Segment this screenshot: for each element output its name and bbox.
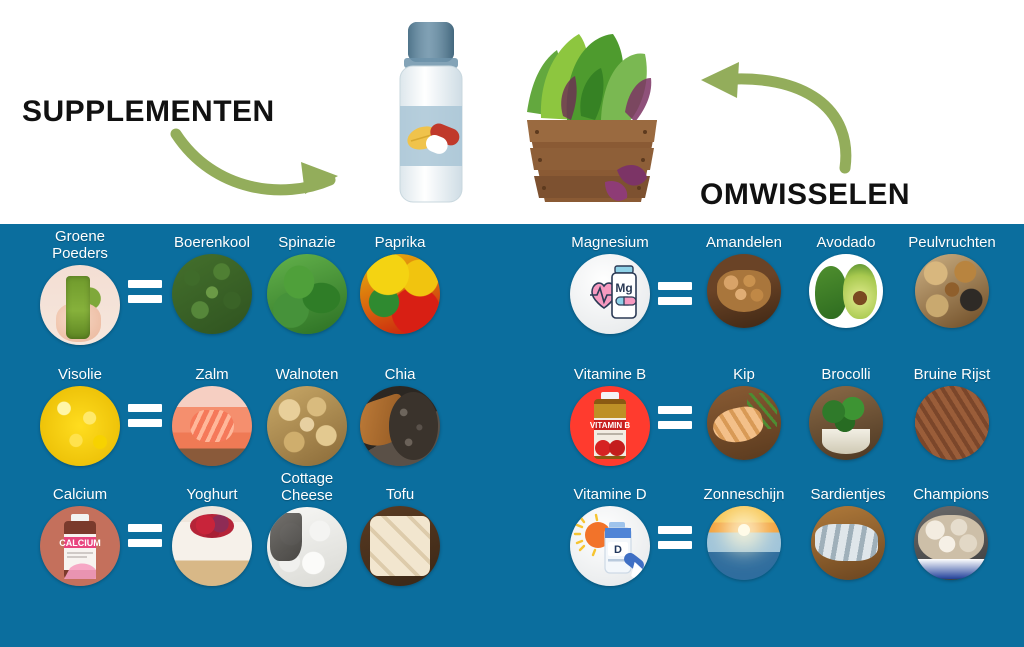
svg-text:VITAMIN B: VITAMIN B — [590, 421, 631, 430]
cottage-cheese-photo — [267, 507, 347, 587]
food-cell: Cottage Cheese — [264, 470, 350, 587]
sardines-photo — [811, 506, 885, 580]
svg-text:Mg: Mg — [615, 281, 632, 295]
svg-text:D: D — [614, 544, 622, 556]
equals-sign — [658, 282, 692, 308]
vitamin-b-bottle-icon: VITAMIN B — [570, 386, 650, 466]
food-cell: Zalm — [165, 366, 259, 466]
food-label: Kip — [696, 366, 792, 383]
mushrooms-photo — [914, 506, 988, 580]
bell-peppers-photo — [360, 254, 440, 334]
svg-text:CALCIUM: CALCIUM — [59, 538, 101, 548]
supplement-label: Vitamine D — [560, 486, 660, 503]
omwisselen-title: OMWISSELEN — [700, 178, 910, 212]
row-calcium: Calcium CALCIUM — [0, 482, 512, 600]
food-cell: Paprika — [357, 234, 443, 334]
supplement-cell: Visolie — [30, 366, 130, 466]
equals-sign — [128, 524, 162, 550]
food-label: Amandelen — [696, 234, 792, 251]
food-label: Walnoten — [264, 366, 350, 383]
row-visolie: Visolie Zalm Walnoten Chia — [0, 362, 512, 480]
header-band: SUPPLEMENTEN OMWISSELEN — [0, 0, 1024, 224]
supplement-cell: Groene Poeders — [30, 228, 130, 345]
food-cell: Walnoten — [264, 366, 350, 466]
tofu-photo — [360, 506, 440, 586]
food-label: Bruine Rijst — [896, 366, 1008, 383]
food-cell: Amandelen — [696, 234, 792, 328]
food-cell: Chia — [357, 366, 443, 466]
curved-arrow-right-icon — [168, 128, 358, 198]
sunshine-photo — [707, 506, 781, 580]
food-cell: Yoghurt — [165, 486, 259, 586]
food-cell: Brocolli — [802, 366, 890, 460]
green-smoothie-photo — [40, 265, 120, 345]
food-label: Tofu — [357, 486, 443, 503]
chicken-breast-photo — [707, 386, 781, 460]
supplement-cell: Vitamine B VITAMIN B — [560, 366, 660, 466]
fish-oil-capsules-photo — [40, 386, 120, 466]
kale-photo — [172, 254, 252, 334]
food-label: Peulvruchten — [896, 234, 1008, 251]
supplement-label: Vitamine B — [560, 366, 660, 383]
supplement-bottle-icon — [378, 18, 484, 208]
walnuts-photo — [267, 386, 347, 466]
food-cell: Boerenkool — [165, 234, 259, 334]
supplement-cell: Calcium CALCIUM — [30, 486, 130, 586]
infographic-page: SUPPLEMENTEN OMWISSELEN — [0, 0, 1024, 647]
equals-sign — [658, 526, 692, 552]
food-cell: Tofu — [357, 486, 443, 586]
legumes-photo — [915, 254, 989, 328]
row-vitamine-b: Vitamine B VITAMIN B — [540, 362, 1024, 480]
supplement-label: Visolie — [30, 366, 130, 383]
yoghurt-photo — [172, 506, 252, 586]
food-label: Chia — [357, 366, 443, 383]
equals-sign — [128, 280, 162, 306]
supplement-cell: Magnesium Mg — [560, 234, 660, 334]
vitamin-d-bottle-icon: D — [570, 506, 650, 586]
food-label: Zonneschijn — [690, 486, 798, 503]
right-column: Magnesium Mg — [540, 224, 1024, 647]
almonds-photo — [707, 254, 781, 328]
row-vitamine-d: Vitamine D — [540, 482, 1024, 600]
vegetable-basket-icon — [505, 20, 680, 210]
food-cell: Zonneschijn — [690, 486, 798, 580]
brown-rice-photo — [915, 386, 989, 460]
row-groene-poeders: Groene Poeders Boerenkool Spinazie Papri… — [0, 224, 512, 342]
food-cell: Peulvruchten — [896, 234, 1008, 328]
food-label: Sardientjes — [798, 486, 898, 503]
food-cell: Bruine Rijst — [896, 366, 1008, 460]
food-label: Zalm — [165, 366, 259, 383]
food-cell: Sardientjes — [798, 486, 898, 580]
supplementen-title: SUPPLEMENTEN — [22, 95, 275, 129]
food-label: Boerenkool — [165, 234, 259, 251]
food-cell: Kip — [696, 366, 792, 460]
row-magnesium: Magnesium Mg — [540, 224, 1024, 342]
supplement-cell: Vitamine D — [560, 486, 660, 586]
equals-sign — [128, 404, 162, 430]
broccoli-photo — [809, 386, 883, 460]
salmon-photo — [172, 386, 252, 466]
food-cell: Avodado — [802, 234, 890, 328]
food-label: Brocolli — [802, 366, 890, 383]
food-label: Cottage Cheese — [264, 470, 350, 504]
food-label: Paprika — [357, 234, 443, 251]
supplement-label: Groene Poeders — [30, 228, 130, 262]
food-cell: Spinazie — [264, 234, 350, 334]
supplement-label: Calcium — [30, 486, 130, 503]
food-label: Spinazie — [264, 234, 350, 251]
calcium-bottle-icon: CALCIUM — [40, 506, 120, 586]
comparison-panel: Groene Poeders Boerenkool Spinazie Papri… — [0, 224, 1024, 647]
supplement-label: Magnesium — [560, 234, 660, 251]
food-cell: Champions — [898, 486, 1004, 580]
curved-arrow-left-icon — [685, 50, 855, 175]
spinach-photo — [267, 254, 347, 334]
chia-seeds-photo — [360, 386, 440, 466]
food-label: Avodado — [802, 234, 890, 251]
food-label: Yoghurt — [165, 486, 259, 503]
magnesium-bottle-icon: Mg — [570, 254, 650, 334]
food-label: Champions — [898, 486, 1004, 503]
equals-sign — [658, 406, 692, 432]
left-column: Groene Poeders Boerenkool Spinazie Papri… — [0, 224, 512, 647]
avocado-photo — [809, 254, 883, 328]
